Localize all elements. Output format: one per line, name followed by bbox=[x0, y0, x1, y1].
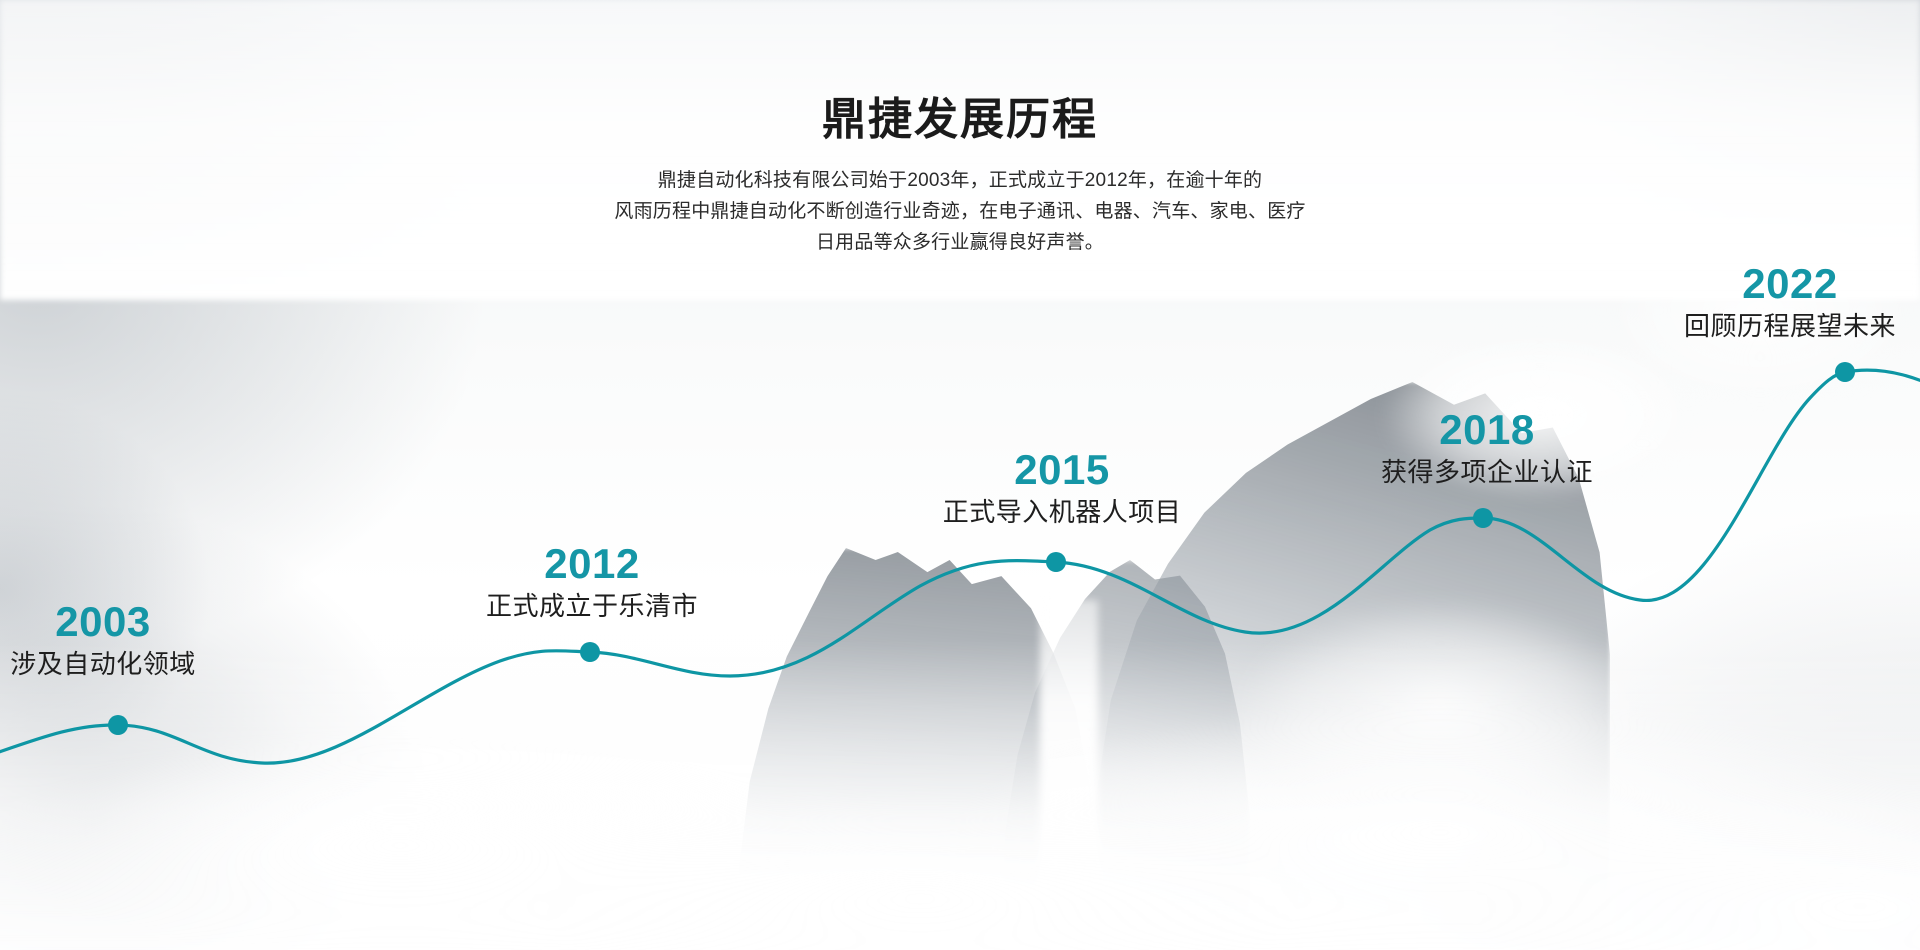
milestone-desc-2022: 回顾历程展望未来 bbox=[1684, 310, 1896, 343]
milestone-desc-2015: 正式导入机器人项目 bbox=[943, 496, 1182, 529]
subtitle-paragraph: 鼎捷自动化科技有限公司始于2003年，正式成立于2012年，在逾十年的 风雨历程… bbox=[0, 166, 1920, 258]
page-title: 鼎捷发展历程 bbox=[0, 96, 1920, 144]
subtitle-line-3: 日用品等众多行业赢得良好声誉。 bbox=[0, 228, 1920, 259]
header: 鼎捷发展历程 鼎捷自动化科技有限公司始于2003年，正式成立于2012年，在逾十… bbox=[0, 96, 1920, 259]
timeline-dot-2003[interactable] bbox=[108, 715, 128, 735]
milestone-year-2003: 2003 bbox=[10, 600, 196, 644]
timeline-dot-2012[interactable] bbox=[580, 642, 600, 662]
milestone-2022[interactable]: 2022回顾历程展望未来 bbox=[1684, 262, 1896, 343]
milestone-2012[interactable]: 2012正式成立于乐清市 bbox=[486, 542, 698, 623]
subtitle-line-2: 风雨历程中鼎捷自动化不断创造行业奇迹，在电子通讯、电器、汽车、家电、医疗 bbox=[0, 197, 1920, 228]
timeline-curve-line bbox=[0, 370, 1920, 763]
milestone-year-2012: 2012 bbox=[486, 542, 698, 586]
milestone-2015[interactable]: 2015正式导入机器人项目 bbox=[943, 448, 1182, 529]
timeline-dot-2015[interactable] bbox=[1046, 552, 1066, 572]
milestone-2018[interactable]: 2018获得多项企业认证 bbox=[1381, 408, 1593, 489]
timeline-poster: 鼎捷发展历程 鼎捷自动化科技有限公司始于2003年，正式成立于2012年，在逾十… bbox=[0, 0, 1920, 950]
milestone-desc-2018: 获得多项企业认证 bbox=[1381, 456, 1593, 489]
subtitle-line-1: 鼎捷自动化科技有限公司始于2003年，正式成立于2012年，在逾十年的 bbox=[0, 166, 1920, 197]
milestone-2003[interactable]: 2003涉及自动化领域 bbox=[10, 600, 196, 681]
timeline-dot-2018[interactable] bbox=[1473, 508, 1493, 528]
timeline-dot-2022[interactable] bbox=[1835, 362, 1855, 382]
milestone-desc-2012: 正式成立于乐清市 bbox=[486, 590, 698, 623]
milestone-desc-2003: 涉及自动化领域 bbox=[10, 648, 196, 681]
milestone-year-2022: 2022 bbox=[1684, 262, 1896, 306]
milestone-year-2015: 2015 bbox=[943, 448, 1182, 492]
milestone-year-2018: 2018 bbox=[1381, 408, 1593, 452]
